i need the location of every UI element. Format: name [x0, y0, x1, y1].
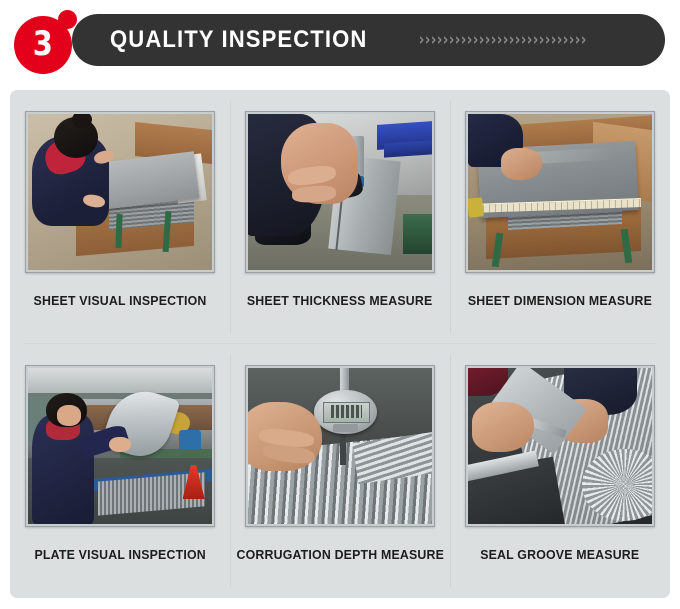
photo-plate-visual-inspection — [28, 368, 212, 524]
card-sheet-visual-inspection: SHEET VISUAL INSPECTION — [10, 90, 230, 344]
chevron-right-icon: › — [581, 32, 587, 49]
chevron-right-icon: › — [545, 32, 551, 49]
chevron-right-icon: › — [419, 32, 425, 49]
photo-frame — [245, 111, 435, 273]
card-seal-groove-measure: SEAL GROOVE MEASURE — [450, 344, 670, 598]
photo-frame — [245, 365, 435, 527]
chevron-right-icon: › — [491, 32, 497, 49]
photo-sheet-thickness-measure — [248, 114, 432, 270]
badge-circle: 3 — [14, 16, 72, 74]
card-caption: SHEET VISUAL INSPECTION — [34, 293, 207, 308]
chevron-right-icon: › — [479, 32, 485, 49]
quality-inspection-page: QUALITY INSPECTION ›››››››››››››››››››››… — [0, 0, 680, 609]
photo-corrugation-depth-measure — [248, 368, 432, 524]
chevron-right-icon: › — [497, 32, 503, 49]
card-caption: SEAL GROOVE MEASURE — [480, 547, 639, 562]
card-corrugation-depth-measure: CORRUGATION DEPTH MEASURE — [230, 344, 450, 598]
chevron-right-icon: › — [443, 32, 449, 49]
card-sheet-dimension-measure: SHEET DIMENSION MEASURE — [450, 90, 670, 344]
card-sheet-thickness-measure: SHEET THICKNESS MEASURE — [230, 90, 450, 344]
chevron-right-icon: › — [455, 32, 461, 49]
chevron-right-icon: › — [425, 32, 431, 49]
chevron-right-icon: › — [461, 32, 467, 49]
chevron-right-icon: › — [521, 32, 527, 49]
chevron-right-icon: › — [437, 32, 443, 49]
chevron-right-icon: › — [551, 32, 557, 49]
card-plate-visual-inspection: PLATE VISUAL INSPECTION — [10, 344, 230, 598]
card-caption: PLATE VISUAL INSPECTION — [34, 547, 205, 562]
inspection-row-bottom: PLATE VISUAL INSPECTION — [10, 344, 670, 598]
chevron-right-icon: › — [473, 32, 479, 49]
chevron-right-icon: › — [515, 32, 521, 49]
photo-sheet-visual-inspection — [28, 114, 212, 270]
photo-sheet-dimension-measure — [468, 114, 652, 270]
chevron-right-icon: › — [431, 32, 437, 49]
step-badge: 3 — [14, 8, 88, 76]
page-title: QUALITY INSPECTION — [110, 26, 367, 54]
card-caption: CORRUGATION DEPTH MEASURE — [236, 547, 444, 562]
chevron-right-icon: › — [449, 32, 455, 49]
chevron-right-icon: › — [503, 32, 509, 49]
chevron-right-icon: › — [485, 32, 491, 49]
photo-frame — [465, 111, 655, 273]
inspection-grid-panel: SHEET VISUAL INSPECTION — [10, 90, 670, 598]
photo-frame — [25, 111, 215, 273]
chevron-right-icon: › — [557, 32, 563, 49]
photo-frame — [465, 365, 655, 527]
chevron-right-icon: › — [509, 32, 515, 49]
step-number: 3 — [33, 27, 53, 61]
inspection-row-top: SHEET VISUAL INSPECTION — [10, 90, 670, 344]
chevron-arrows-decoration: ›››››››››››››››››››››››››››› — [418, 27, 665, 53]
header-banner: QUALITY INSPECTION ›››››››››››››››››››››… — [72, 14, 665, 66]
photo-frame — [25, 365, 215, 527]
photo-seal-groove-measure — [468, 368, 652, 524]
chevron-right-icon: › — [467, 32, 473, 49]
page-header: QUALITY INSPECTION ›››››››››››››››››››››… — [0, 0, 680, 84]
chevron-right-icon: › — [539, 32, 545, 49]
chevron-right-icon: › — [527, 32, 533, 49]
card-caption: SHEET THICKNESS MEASURE — [247, 293, 433, 308]
card-caption: SHEET DIMENSION MEASURE — [468, 293, 652, 308]
chevron-right-icon: › — [533, 32, 539, 49]
